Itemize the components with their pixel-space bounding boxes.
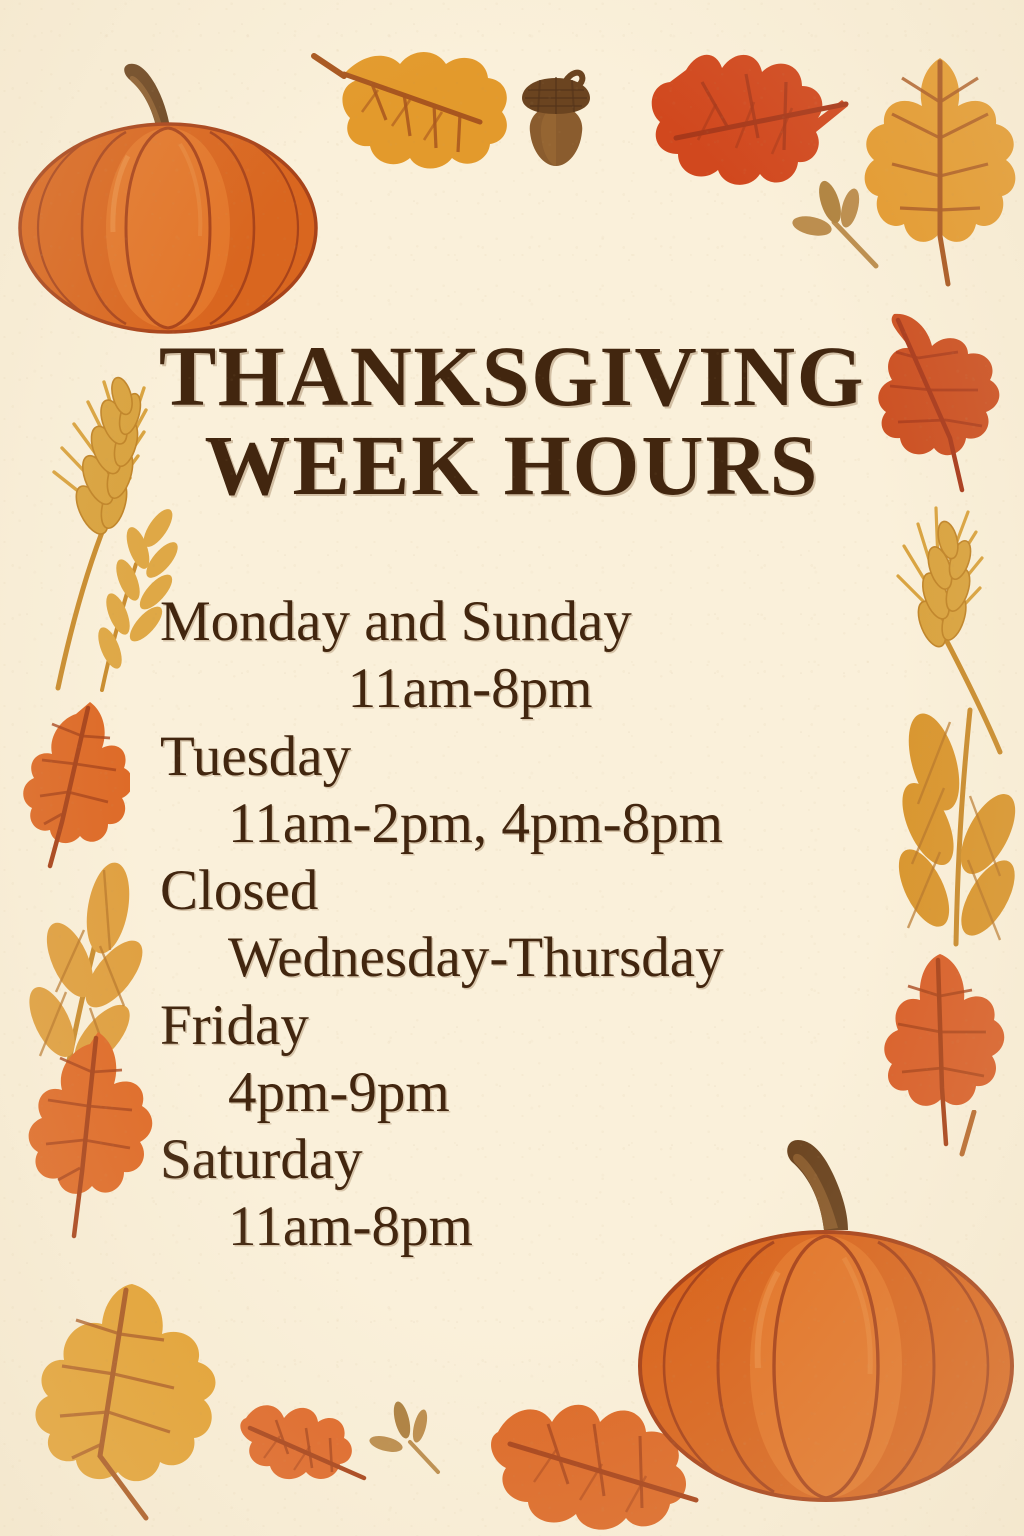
hours-row: Friday 4pm-9pm (160, 992, 880, 1127)
hours-row: Closed Wednesday-Thursday (160, 857, 880, 992)
title-line-1: THANKSGIVING (0, 332, 1024, 421)
hours-row: Tuesday 11am-2pm, 4pm-8pm (160, 723, 880, 858)
hours-list: Monday and Sunday 11am-8pm Tuesday 11am-… (160, 588, 880, 1261)
day-label: Tuesday (160, 723, 880, 790)
time-label: 11am-8pm (160, 655, 780, 722)
time-label: 4pm-9pm (160, 1059, 880, 1126)
hours-row: Saturday 11am-8pm (160, 1126, 880, 1261)
day-label: Monday and Sunday (160, 588, 880, 655)
day-label: Saturday (160, 1126, 880, 1193)
time-label: 11am-2pm, 4pm-8pm (160, 790, 880, 857)
title-line-2: WEEK HOURS (0, 421, 1024, 510)
page-title: THANKSGIVING WEEK HOURS (0, 332, 1024, 509)
time-label: Wednesday-Thursday (160, 924, 880, 991)
thanksgiving-hours-poster: THANKSGIVING WEEK HOURS Monday and Sunda… (0, 0, 1024, 1536)
hours-row: Monday and Sunday 11am-8pm (160, 588, 880, 723)
text-layer: THANKSGIVING WEEK HOURS Monday and Sunda… (0, 0, 1024, 1536)
day-label: Closed (160, 857, 880, 924)
time-label: 11am-8pm (160, 1193, 880, 1260)
day-label: Friday (160, 992, 880, 1059)
